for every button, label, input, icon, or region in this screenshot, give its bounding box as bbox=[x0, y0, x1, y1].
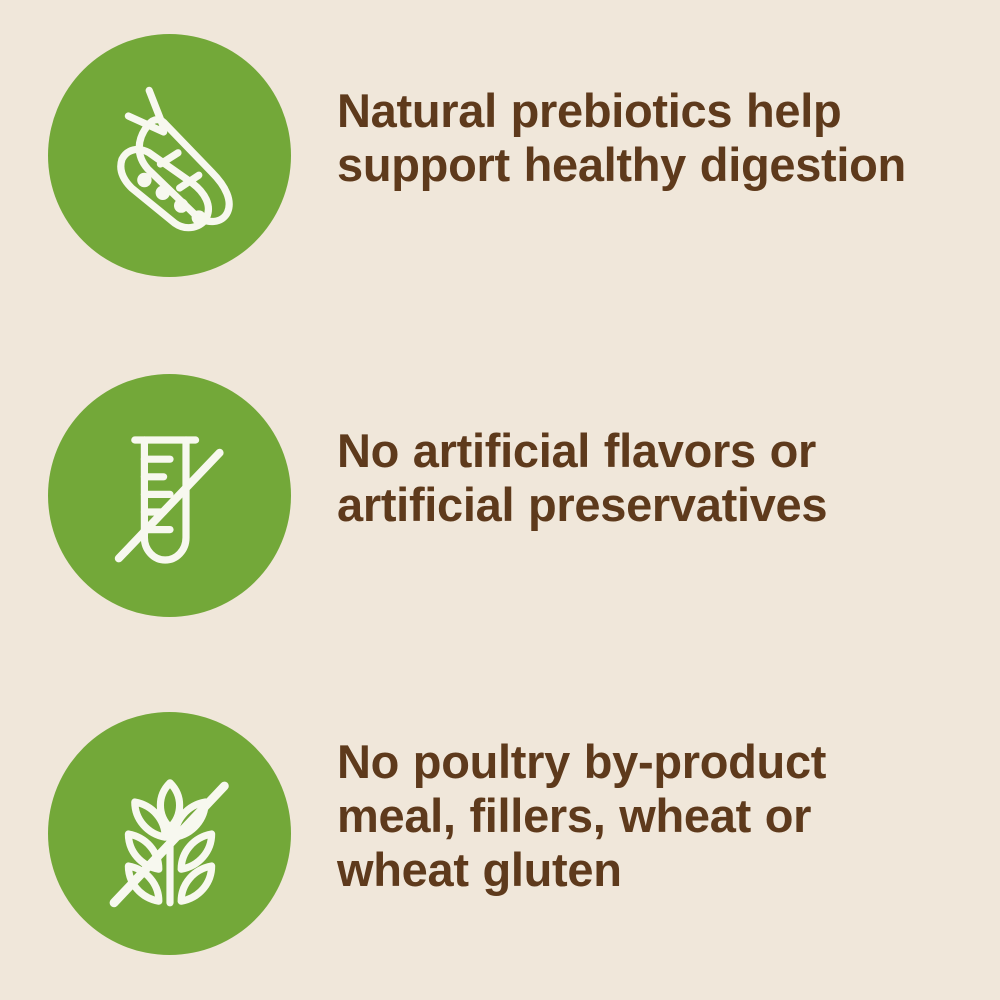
benefit-row: No artificial flavors or artificial pres… bbox=[0, 374, 1000, 617]
benefit-text: No poultry by-product meal, fillers, whe… bbox=[337, 735, 957, 897]
benefit-row: Natural prebiotics help support healthy … bbox=[0, 34, 1000, 277]
benefit-line: artificial preservatives bbox=[337, 478, 957, 532]
benefit-line: No poultry by-product bbox=[337, 735, 957, 789]
benefit-text: No artificial flavors or artificial pres… bbox=[337, 424, 957, 532]
benefit-line: No artificial flavors or bbox=[337, 424, 957, 478]
no-test-tube-icon bbox=[48, 374, 291, 617]
benefit-line: Natural prebiotics help bbox=[337, 84, 957, 138]
benefits-infographic: Natural prebiotics help support healthy … bbox=[0, 0, 1000, 1000]
benefit-line: support healthy digestion bbox=[337, 138, 957, 192]
benefit-line: meal, fillers, wheat or bbox=[337, 789, 957, 843]
benefit-line: wheat gluten bbox=[337, 843, 957, 897]
benefit-row: No poultry by-product meal, fillers, whe… bbox=[0, 712, 1000, 955]
no-wheat-icon bbox=[48, 712, 291, 955]
benefit-text: Natural prebiotics help support healthy … bbox=[337, 84, 957, 192]
carrot-pea-pod-icon bbox=[48, 34, 291, 277]
